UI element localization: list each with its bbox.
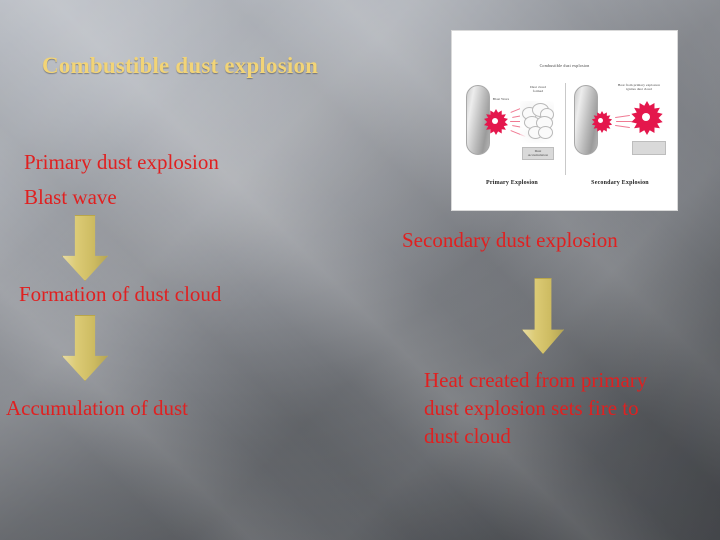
slide-canvas: Combustible dust explosion Primary dust … bbox=[0, 0, 720, 540]
heat-line-3: dust cloud bbox=[424, 424, 511, 448]
heat-line-2: dust explosion sets fire to bbox=[424, 396, 639, 420]
down-arrow-icon-right-1 bbox=[522, 278, 564, 354]
heat-wave-lines-icon bbox=[615, 115, 633, 129]
left-step-formation-of-dust-cloud: Formation of dust cloud bbox=[19, 282, 221, 307]
left-step-accumulation-of-dust: Accumulation of dust bbox=[6, 396, 188, 421]
burst-core bbox=[642, 113, 650, 121]
arrow-shading bbox=[63, 316, 107, 380]
right-step-secondary-dust-explosion: Secondary dust explosion bbox=[402, 228, 618, 253]
page-title: Combustible dust explosion bbox=[42, 53, 318, 79]
down-arrow-icon-left-1 bbox=[62, 215, 108, 281]
diagram-divider bbox=[565, 83, 566, 175]
down-arrow-icon-left-2 bbox=[62, 315, 108, 381]
label-blast-wave: Blast Wave bbox=[486, 97, 516, 101]
diagram-panel-primary: Blast Wave Dust cloudformed DustAccumula… bbox=[460, 79, 564, 184]
label-heat-ignites: Heat from primary explosionignites dust … bbox=[610, 83, 668, 92]
arrow-shading bbox=[63, 216, 107, 280]
dust-cloud-icon bbox=[520, 101, 554, 143]
burst-core bbox=[492, 118, 498, 124]
caption-secondary-explosion: Secondary Explosion bbox=[568, 180, 672, 186]
dust-layer-box bbox=[632, 141, 666, 155]
burst-core bbox=[598, 118, 603, 123]
left-step-blast-wave: Blast wave bbox=[24, 185, 117, 210]
caption-primary-explosion: Primary Explosion bbox=[460, 180, 564, 186]
arrow-shading bbox=[523, 279, 563, 353]
left-step-primary-dust-explosion: Primary dust explosion bbox=[24, 150, 219, 175]
burst-ring bbox=[639, 110, 656, 127]
diagram-caption: Combustible dust explosion bbox=[452, 63, 677, 68]
label-dust-cloud-formed: Dust cloudformed bbox=[518, 85, 558, 94]
burst-ring bbox=[489, 115, 503, 129]
label-dust-accumulation: DustAccumulation bbox=[522, 149, 554, 158]
diagram-panel-secondary: Heat from primary explosionignites dust … bbox=[568, 79, 672, 184]
right-step-heat-created: Heat created from primarydust explosion … bbox=[424, 366, 647, 450]
explosion-burst-icon-secondary bbox=[630, 101, 664, 135]
burst-ring bbox=[596, 116, 608, 128]
embedded-diagram-image[interactable]: Combustible dust explosion Blast Wave bbox=[451, 30, 678, 211]
heat-line-1: Heat created from primary bbox=[424, 368, 647, 392]
